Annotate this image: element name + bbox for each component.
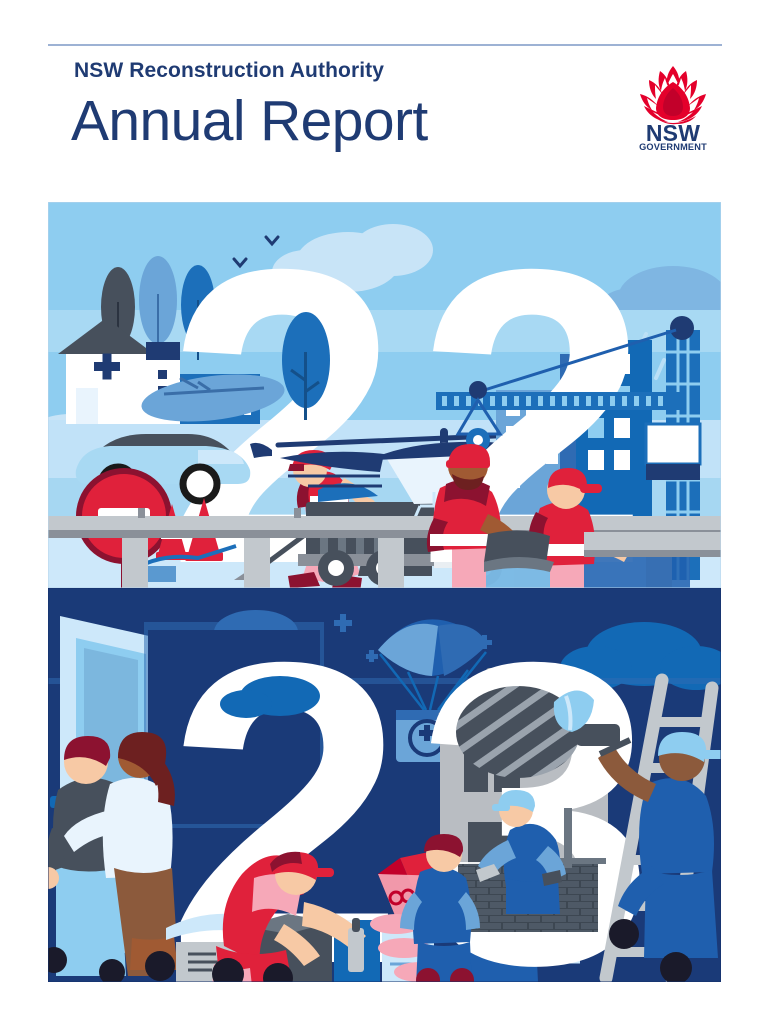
illustration-bottom-panel: 2: [48, 574, 721, 982]
nsw-logo-line2: GOVERNMENT: [639, 142, 707, 150]
illustration-top-panel: 2: [48, 202, 721, 652]
digit-glyph: 2: [166, 202, 400, 652]
page-title: Annual Report: [71, 88, 594, 154]
organisation-name: NSW Reconstruction Authority: [74, 58, 594, 84]
digit-2-top-left: 2: [166, 202, 400, 652]
cover-illustration: 2: [48, 202, 721, 982]
header-divider: [48, 44, 722, 46]
page-title-block: NSW Reconstruction Authority Annual Repo…: [74, 58, 594, 154]
cover-page: NSW Reconstruction Authority Annual Repo…: [0, 0, 770, 1024]
waratah-icon: [640, 66, 706, 124]
nsw-government-logo: NSW GOVERNMENT: [627, 58, 719, 150]
nsw-wordmark: NSW GOVERNMENT: [639, 120, 707, 150]
